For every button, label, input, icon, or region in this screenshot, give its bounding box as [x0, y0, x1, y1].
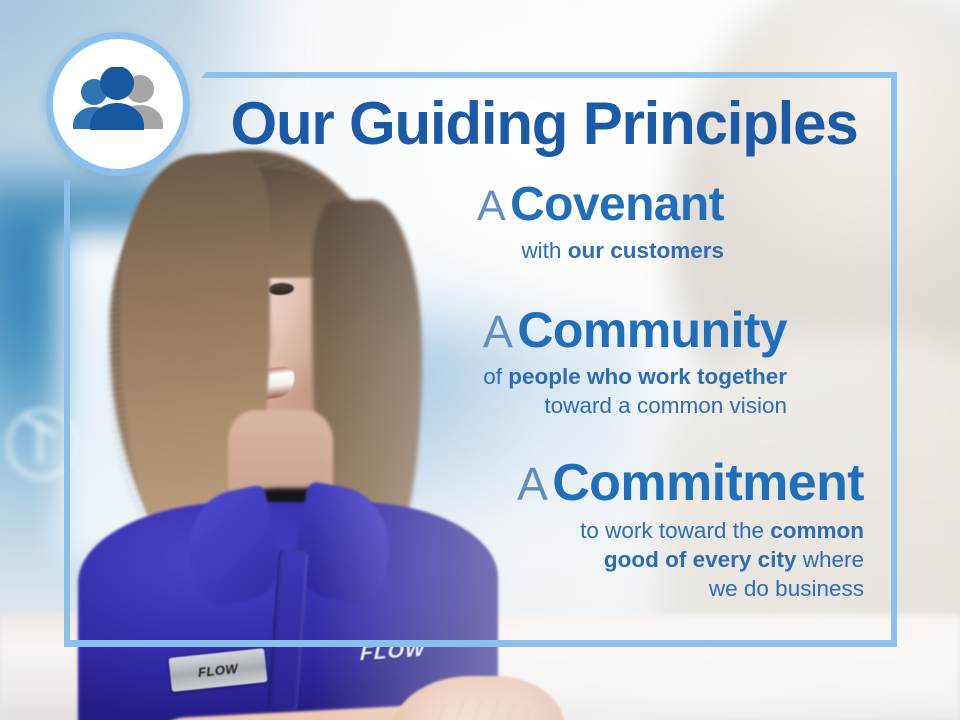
subtext-line2-bold: good of every city: [604, 547, 797, 572]
subtext-pre: of: [483, 364, 508, 389]
subtext-pre: with: [521, 238, 567, 263]
name-badge-text: FLOW: [197, 660, 239, 679]
principle-commitment: A Commitment to work toward the common g…: [517, 456, 864, 603]
guiding-principles-banner: FLOW FLOW: [0, 0, 960, 720]
page-title: Our Guiding Principles: [224, 94, 864, 154]
principle-subtext: with our customers: [477, 237, 724, 266]
subtext-bold: common: [770, 518, 864, 543]
subtext-bold: our customers: [568, 238, 724, 263]
principle-subtext: of people who work together toward a com…: [483, 363, 787, 421]
subtext-line3: toward a common vision: [544, 393, 787, 418]
principle-community: A Community of people who work together …: [483, 304, 787, 421]
principle-subtext: to work toward the common good of every …: [517, 517, 864, 603]
principle-article: A: [517, 458, 548, 510]
subtext-line3: we do business: [709, 576, 864, 601]
principle-heading: A Covenant: [477, 180, 724, 230]
principle-word: Covenant: [510, 178, 724, 231]
subtext-line2-post: where: [796, 547, 864, 572]
principle-word: Commitment: [552, 454, 864, 512]
principle-article: A: [477, 182, 506, 230]
principle-article: A: [483, 306, 513, 357]
subtext-bold: people who work together: [508, 364, 787, 389]
subtext-pre: to work toward the: [580, 518, 770, 543]
principle-covenant: A Covenant with our customers: [477, 180, 724, 266]
principle-word: Community: [517, 302, 787, 358]
principle-heading: A Commitment: [517, 456, 864, 510]
banner-content: Our Guiding Principles A Covenant with o…: [64, 72, 897, 647]
principle-heading: A Community: [483, 304, 787, 356]
